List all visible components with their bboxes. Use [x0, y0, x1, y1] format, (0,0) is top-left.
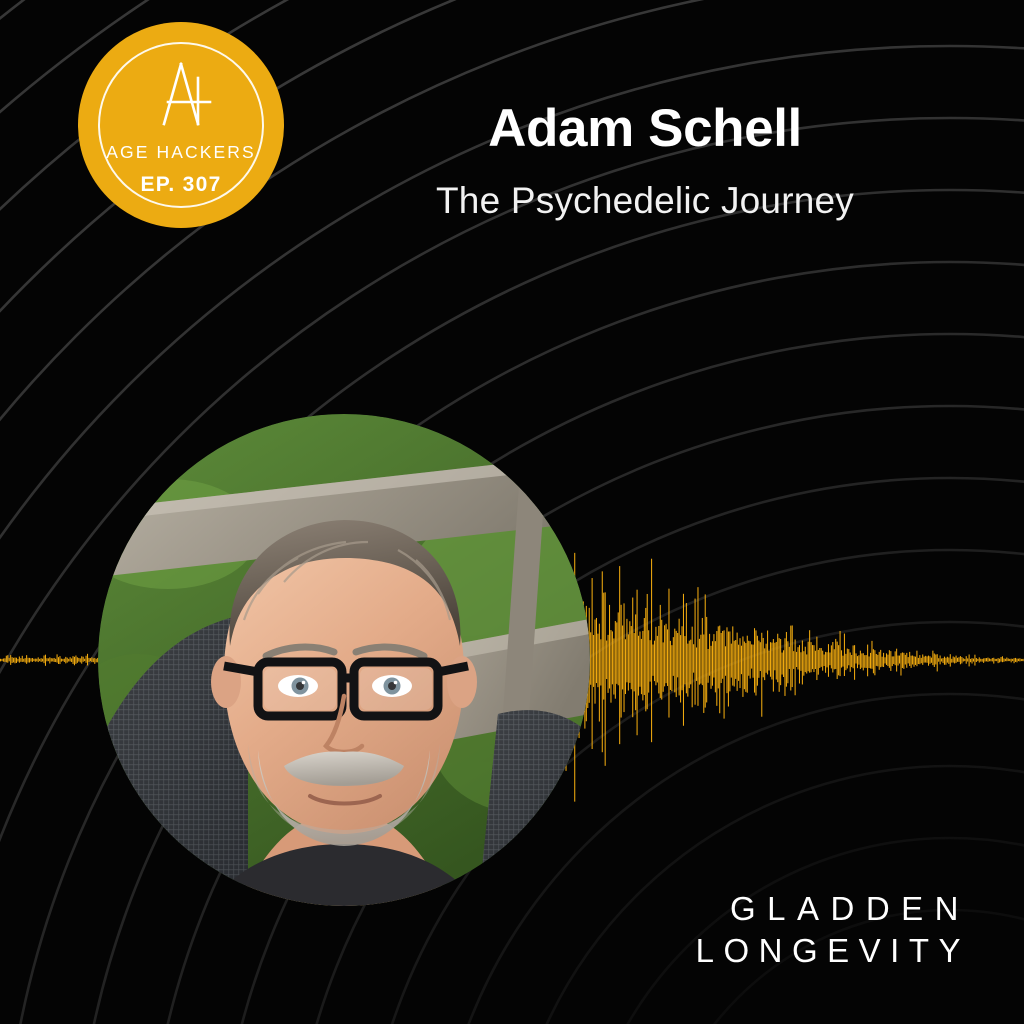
badge-show-name: AGE HACKERS — [78, 144, 284, 162]
badge-episode-number: EP. 307 — [78, 174, 284, 195]
age-hackers-badge: AGE HACKERS EP. 307 — [78, 22, 284, 228]
guest-name: Adam Schell — [300, 100, 990, 157]
podcast-cover-artwork: AGE HACKERS EP. 307 Adam Schell The Psyc… — [0, 0, 1024, 1024]
guest-photo — [98, 414, 590, 906]
episode-title: The Psychedelic Journey — [300, 180, 990, 223]
brand-lockup: GLADDEN LONGEVITY — [696, 888, 972, 972]
brand-name-line2: LONGEVITY — [696, 930, 972, 972]
ah-monogram-icon — [78, 58, 284, 126]
brand-name-line1: GLADDEN — [696, 888, 972, 930]
